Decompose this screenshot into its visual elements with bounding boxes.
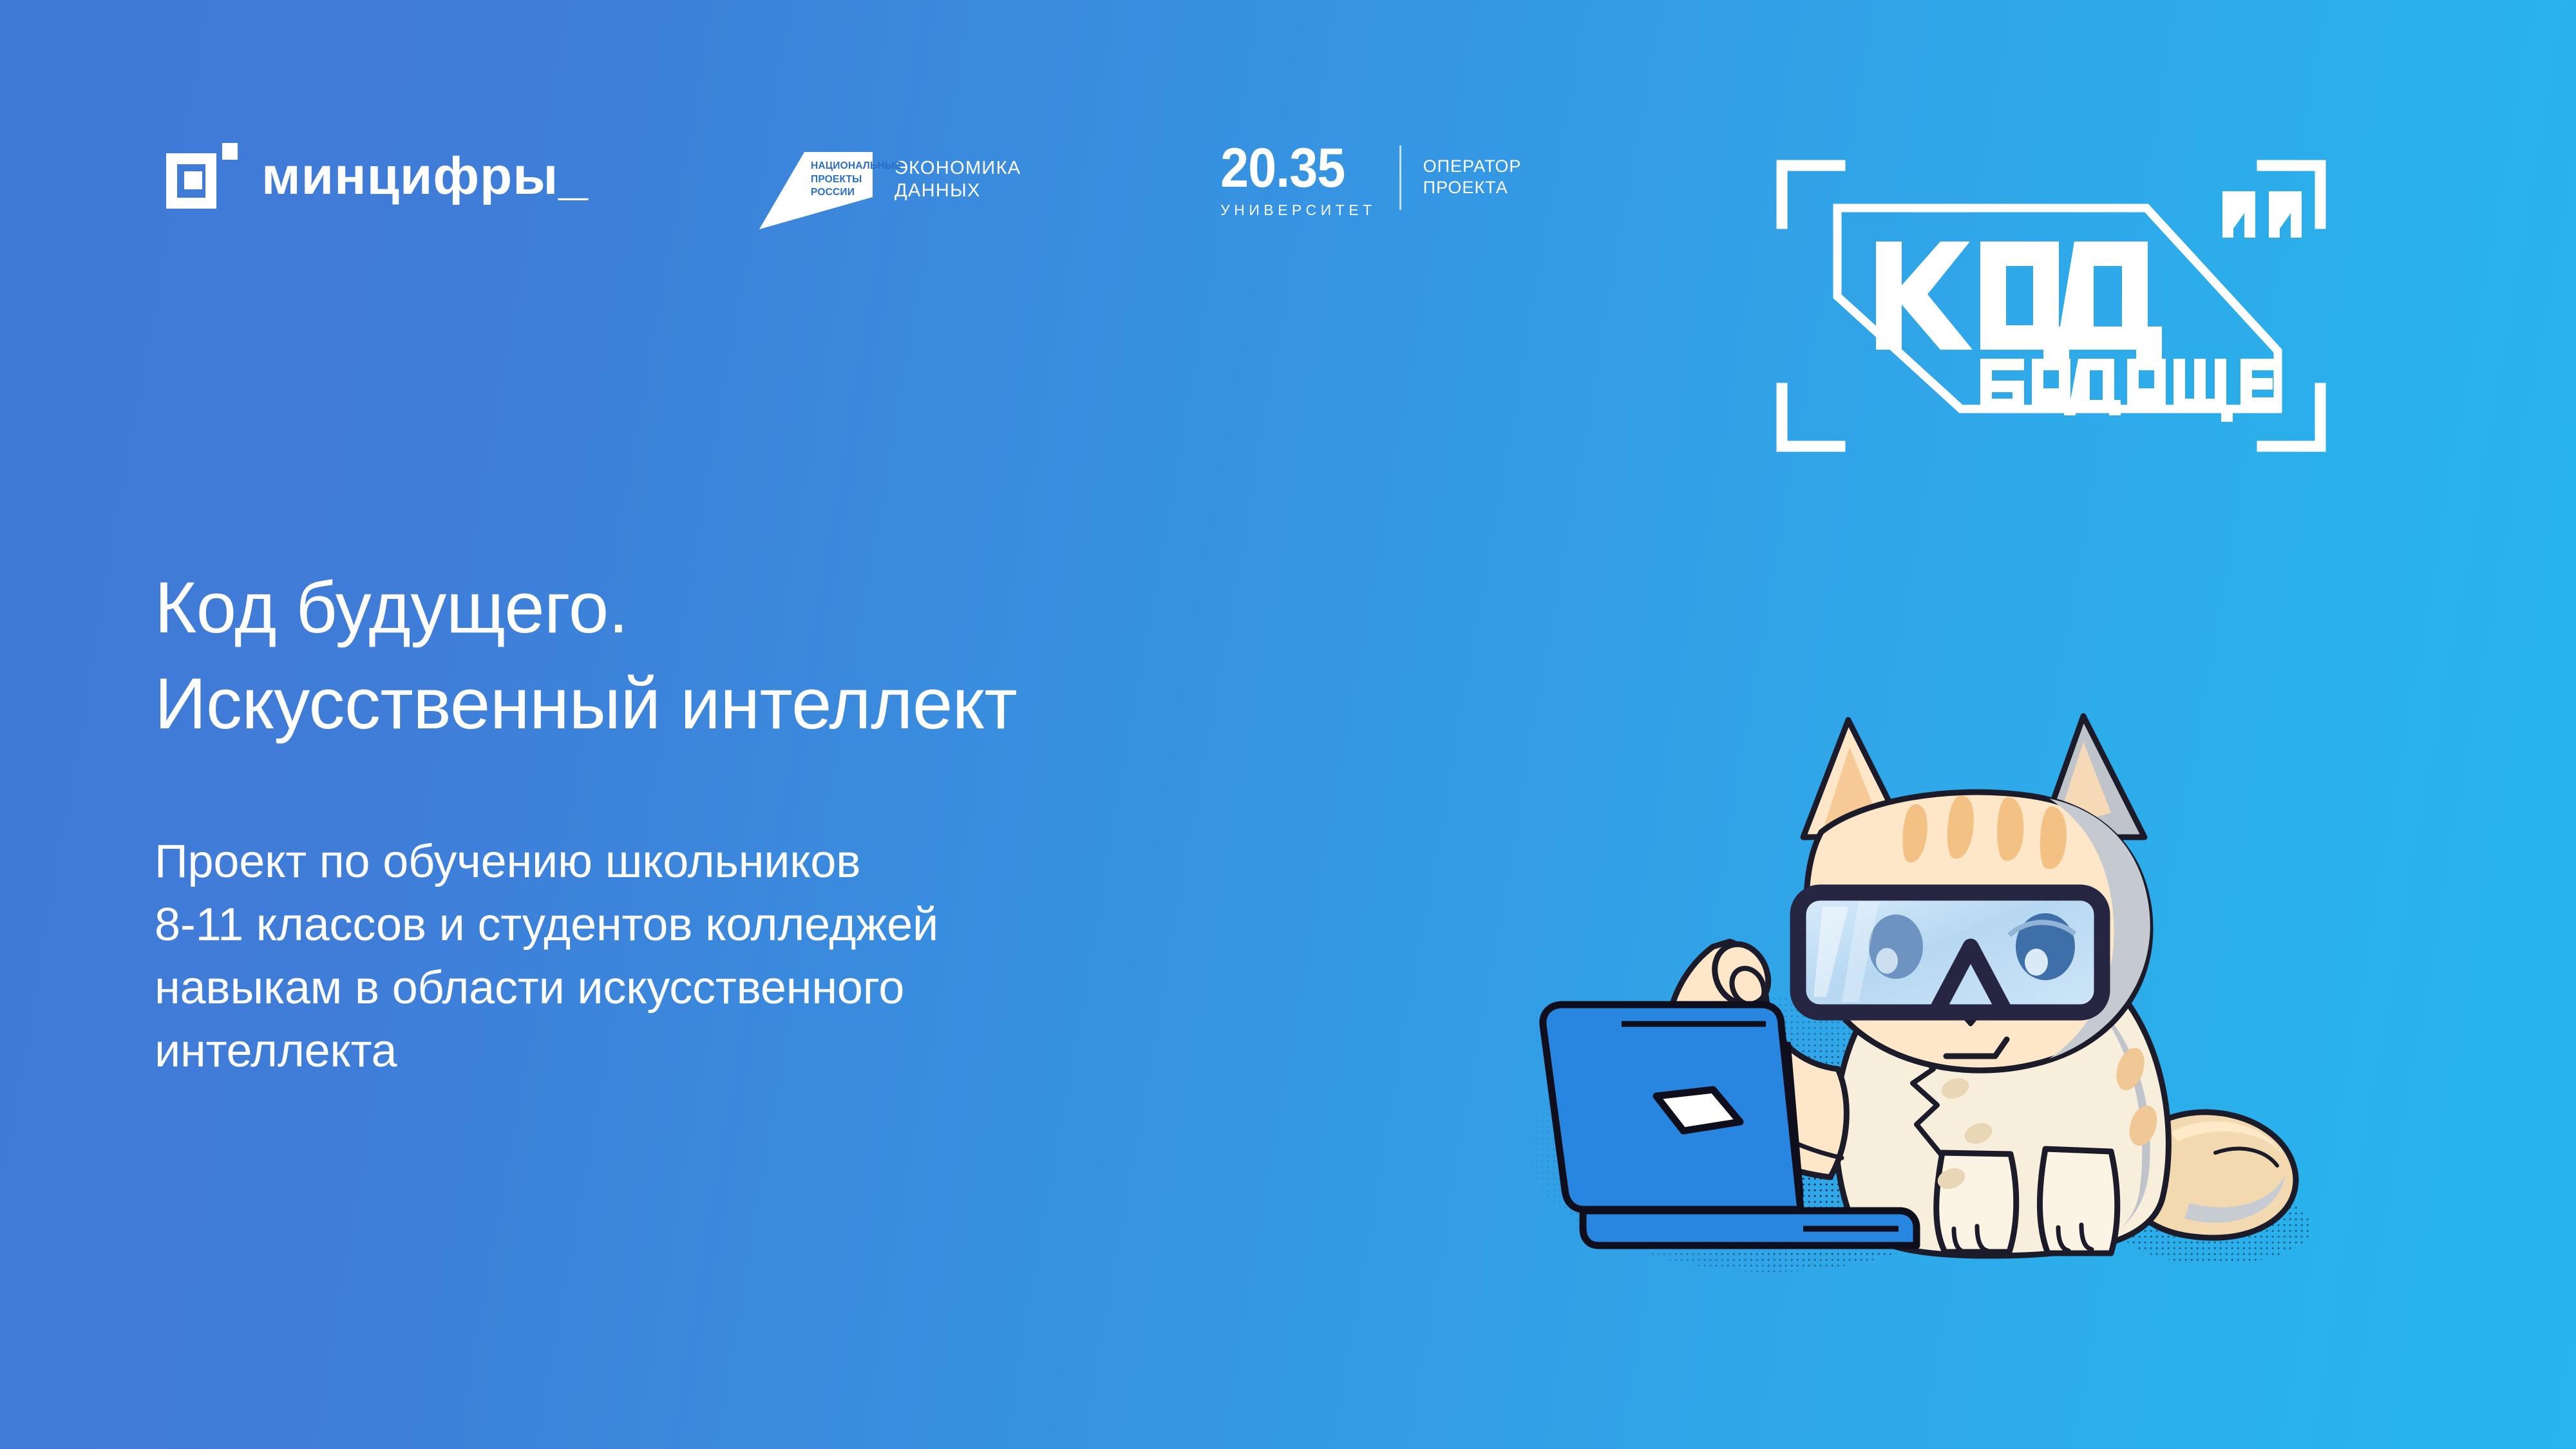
page-description: Проект по обучению школьников 8-11 класс… (155, 831, 938, 1083)
national-projects-flag-text: НАЦИОНАЛЬНЫЕ ПРОЕКТЫ РОССИИ (811, 160, 873, 200)
mincifry-square-mark-icon (166, 143, 233, 210)
logo-national-projects[interactable]: НАЦИОНАЛЬНЫЕ ПРОЕКТЫ РОССИИ ЭКОНОМИКА ДА… (757, 147, 1021, 234)
national-projects-flag-icon: НАЦИОНАЛЬНЫЕ ПРОЕКТЫ РОССИИ (757, 147, 873, 234)
university-2035-subtitle: УНИВЕРСИТЕТ (1220, 202, 1376, 219)
poster-canvas: минцифры_ НАЦИОНАЛЬНЫЕ ПРОЕКТЫ РОССИИ ЭК… (0, 0, 2576, 1449)
economy-of-data-label: ЭКОНОМИКА ДАННЫХ (895, 147, 1021, 203)
university-2035-left: 20.35 УНИВЕРСИТЕТ (1220, 143, 1399, 219)
vr-goggles-icon (1798, 893, 2102, 1012)
logo-row: минцифры_ НАЦИОНАЛЬНЫЕ ПРОЕКТЫ РОССИИ ЭК… (0, 0, 2576, 296)
mincifry-wordmark: минцифры_ (261, 150, 589, 203)
logo-kod-budushchego[interactable] (1768, 151, 2334, 460)
mincifry-inner-square (184, 171, 202, 189)
kod-budushchego-emblem-icon (1768, 151, 2334, 460)
bracket-top-left (1782, 166, 1840, 223)
kod-word-top (1876, 241, 2162, 370)
page-title: Код будущего. Искусственный интеллект (155, 560, 1017, 752)
cat-eye-left (1869, 914, 1923, 979)
cat-illustration (1501, 644, 2338, 1327)
bracket-bottom-right (2262, 388, 2320, 446)
bracket-bottom-left (1782, 388, 1840, 446)
kod-ii-badge (2222, 191, 2302, 238)
project-operator-label: ОПЕРАТОР ПРОЕКТА (1401, 143, 1522, 219)
logo-university-2035[interactable]: 20.35 УНИВЕРСИТЕТ ОПЕРАТОР ПРОЕКТА (1220, 143, 1521, 219)
university-2035-number: 20.35 (1220, 143, 1345, 194)
logo-mincifry[interactable]: минцифры_ (166, 143, 589, 210)
mincifry-corner-square (222, 143, 238, 160)
